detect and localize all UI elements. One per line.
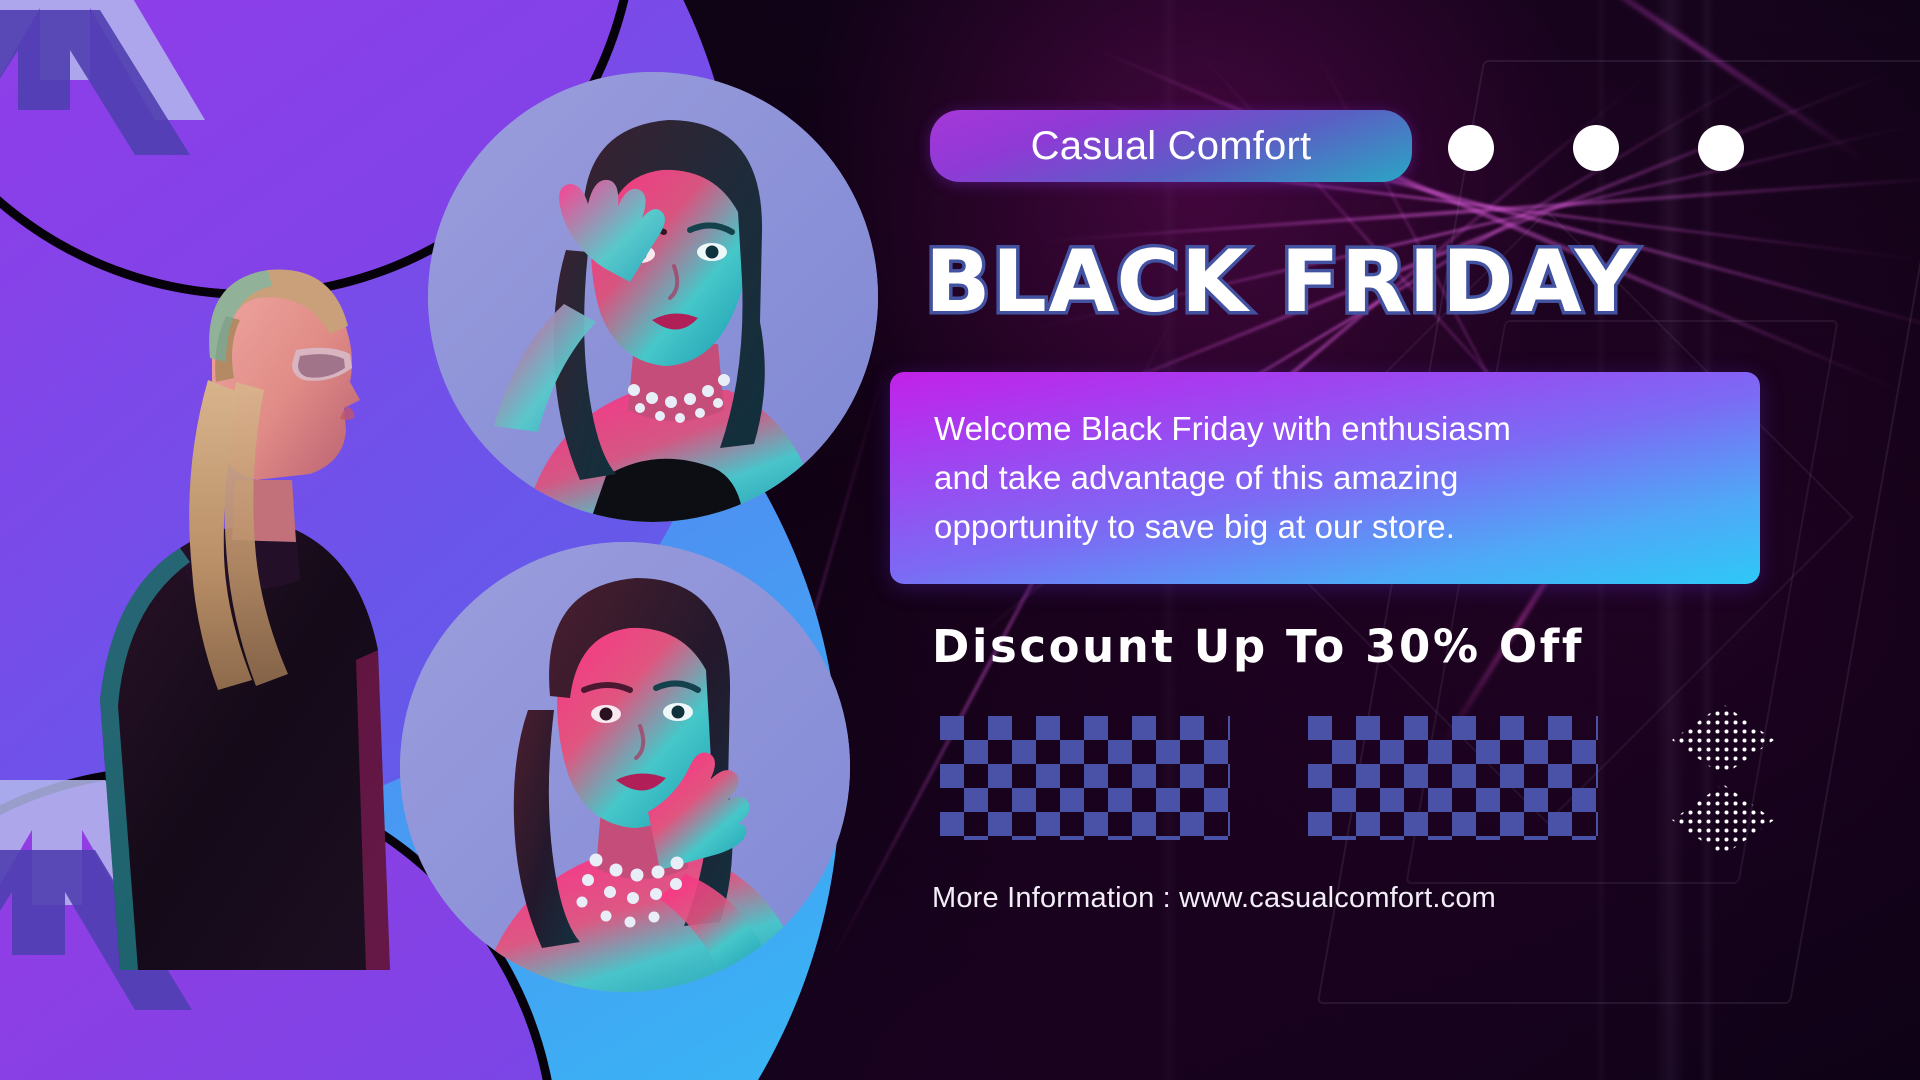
- footer-more-information[interactable]: More Information : www.casualcomfort.com: [932, 882, 1496, 915]
- promo-line-2: and take advantage of this amazing: [934, 453, 1458, 502]
- diamond-ornament: [1668, 700, 1778, 860]
- brand-badge[interactable]: Casual Comfort: [930, 110, 1412, 182]
- discount-headline: Discount Up To 30% Off: [932, 620, 1584, 673]
- decor-dot-3: [1698, 125, 1744, 171]
- decor-dot-1: [1448, 125, 1494, 171]
- checker-pattern-right: [1308, 716, 1598, 840]
- promo-line-1: Welcome Black Friday with enthusiasm: [934, 404, 1511, 453]
- page-title: BLACK FRIDAY: [925, 232, 1639, 332]
- brand-badge-label: Casual Comfort: [1031, 124, 1312, 169]
- portrait-hooded-model: [60, 230, 480, 970]
- checker-pattern-left: [940, 716, 1230, 840]
- portrait-circle-top: [428, 72, 878, 522]
- decor-dot-2: [1573, 125, 1619, 171]
- portrait-circle-bottom: [400, 542, 850, 992]
- chevron-ornament-top: [0, 0, 220, 210]
- black-friday-banner: Casual Comfort BLACK FRIDAY Welcome Blac…: [0, 0, 1920, 1080]
- promo-line-3: opportunity to save big at our store.: [934, 502, 1455, 551]
- promo-panel: Welcome Black Friday with enthusiasm and…: [890, 372, 1760, 584]
